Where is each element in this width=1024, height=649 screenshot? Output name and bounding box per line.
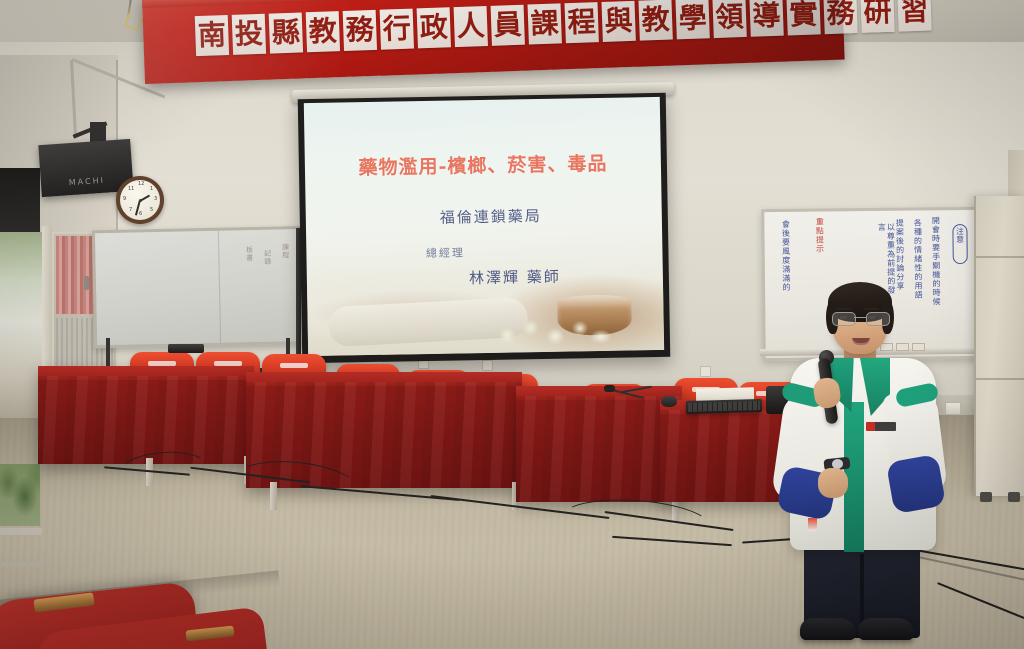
banner-char-19: 習 (897, 0, 931, 32)
eyeglass-bridge (854, 317, 866, 318)
clock-numeral-11: 11 (128, 187, 134, 192)
whiteboard-left[interactable]: 板書 記錄 課程 (92, 226, 319, 349)
balcony-rail (0, 528, 42, 535)
computer-mouse[interactable] (661, 396, 677, 407)
whiteboard-right-red-note: 重點提示 (814, 217, 824, 281)
clock-numeral-12: 12 (138, 182, 144, 187)
conference-table-1 (38, 366, 254, 464)
clock-numeral-5: 5 (150, 208, 153, 213)
balcony-rail-lower (0, 562, 42, 567)
whiteboard-right-heading-box: 注意 (952, 224, 967, 264)
wall-clock: 12 1 3 5 6 7 9 11 (116, 176, 164, 224)
whiteboard-left-note-0: 板書 (245, 246, 254, 316)
outdoor-foliage (0, 464, 40, 526)
projection-screen-surface: 藥物濫用-檳榔、菸害、毒品 福倫連鎖藥局 總經理 林澤輝 藥師 (304, 97, 664, 356)
computer-keyboard[interactable] (686, 399, 762, 414)
tablecloth-drape (38, 376, 254, 464)
clock-numeral-9: 9 (123, 197, 126, 202)
whiteboard-left-note-2: 課程 (281, 243, 290, 313)
conference-table-3 (516, 386, 682, 502)
wall-outlet-d[interactable] (482, 360, 493, 371)
projection-screen: 藥物濫用-檳榔、菸害、毒品 福倫連鎖藥局 總經理 林澤輝 藥師 (298, 93, 671, 363)
clock-face: 12 1 3 5 6 7 9 11 (120, 180, 160, 220)
slide-organization: 福倫連鎖藥局 (306, 203, 662, 230)
clock-numeral-7: 7 (129, 208, 132, 213)
cabinet-caster-right (1008, 492, 1020, 502)
conference-room-photo: MACHI 12 1 3 5 6 7 9 11 板書 記錄 課程 會後要風度 (0, 0, 1024, 649)
whiteboard-left-note-1: 記錄 (263, 250, 272, 320)
presenter-cuff-right (886, 454, 946, 514)
clock-numeral-6: 6 (139, 212, 142, 217)
eyeglass-lens-right (866, 312, 890, 326)
eyeglasses-icon (832, 312, 889, 324)
ceiling-projector (168, 344, 204, 353)
gooseneck-microphone[interactable] (608, 388, 654, 406)
wall-outlet-e[interactable] (700, 366, 711, 377)
keyboard-keys (688, 401, 760, 412)
whiteboard-left-seam (218, 231, 221, 343)
cabinet-caster-left (980, 492, 992, 502)
tablecloth-drape (516, 396, 682, 502)
clock-numeral-3: 3 (154, 197, 157, 202)
presenter-shoe-left (800, 618, 856, 640)
eyeglass-lens-left (832, 312, 856, 326)
presenter-pocket-badge (808, 518, 817, 531)
door-handle[interactable] (84, 276, 89, 290)
cabinet-seam-top (976, 256, 1024, 258)
presenter-hand-lower (818, 468, 848, 498)
storage-cabinet[interactable] (974, 196, 1024, 496)
clock-numeral-1: 1 (150, 187, 153, 192)
presenter-pharmacist (756, 282, 956, 622)
slide-title: 藥物濫用-檳榔、菸害、毒品 (305, 147, 661, 180)
presenter-shoe-right (858, 618, 914, 640)
mic-capsule-icon (604, 385, 615, 392)
slide-flowers-graphic (484, 313, 615, 349)
wall-monitor (0, 168, 40, 232)
banner-char-18: 研 (860, 0, 894, 33)
chair-slot (280, 363, 308, 368)
presenter-coat-logo (866, 422, 896, 431)
cabinet-seam-bottom (976, 378, 1024, 380)
clock-center-pin (139, 199, 142, 202)
